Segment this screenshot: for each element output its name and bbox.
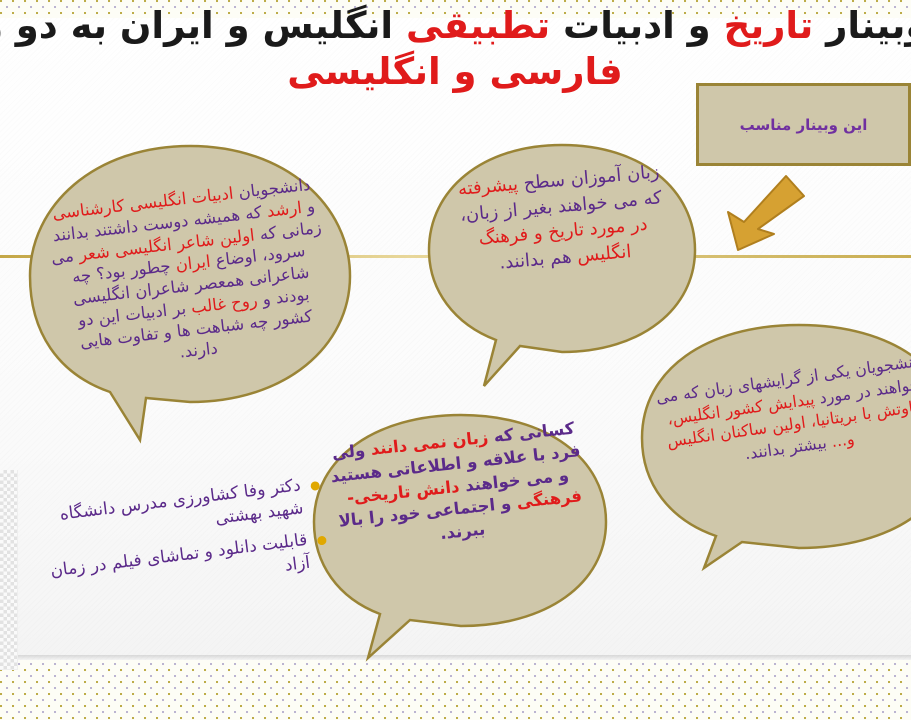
audience-header-box: این وبینار مناسب bbox=[696, 83, 911, 166]
title-segment: تاریخ bbox=[724, 4, 814, 47]
title-segment: وبینار bbox=[813, 4, 911, 47]
presentation-slide: وبینار تاریخ و ادبیات تطبیقی انگلیس و ای… bbox=[0, 0, 911, 720]
speech-bubble-students-literature-text: دانشجویان ادبیات انگلیسی کارشناسی و ارشد… bbox=[45, 173, 335, 377]
title-line-1: وبینار تاریخ و ادبیات تطبیقی انگلیس و ای… bbox=[0, 4, 911, 47]
bubble-text-segment: هم بدانند. bbox=[498, 246, 578, 274]
title-segment: انگلیس و ایران به دو ز bbox=[0, 4, 406, 47]
bullet-dot-icon bbox=[310, 481, 320, 491]
speech-bubble-language-majors: دانشجویان یکی از گرایشهای زبان که می خوا… bbox=[634, 320, 911, 570]
bullet-dot-icon bbox=[317, 535, 327, 545]
audience-header-text: این وبینار مناسب bbox=[740, 116, 868, 134]
bubble-text-segment: ارشد bbox=[266, 198, 303, 221]
down-left-arrow-icon bbox=[716, 172, 808, 254]
title-segment: تطبیقی bbox=[406, 4, 550, 47]
bubble-text-segment: پیشرفته bbox=[457, 174, 519, 200]
bubble-text-segment: ایران bbox=[175, 252, 212, 275]
speech-bubble-advanced-learners-text: زبان آموزان سطح پیشرفته که می خواهند بغی… bbox=[446, 158, 678, 279]
speech-bubble-students-literature: دانشجویان ادبیات انگلیسی کارشناسی و ارشد… bbox=[24, 140, 356, 440]
title-segment: و ادبیات bbox=[550, 4, 723, 47]
left-edge-strip bbox=[0, 470, 18, 670]
speech-bubble-non-speakers: کسانی که زبان نمی دانند ولی فرد با علاقه… bbox=[306, 410, 616, 660]
slide-title: وبینار تاریخ و ادبیات تطبیقی انگلیس و ای… bbox=[0, 4, 911, 93]
dotted-pattern-bottom bbox=[0, 657, 911, 720]
bubble-text-segment: و bbox=[301, 196, 316, 216]
